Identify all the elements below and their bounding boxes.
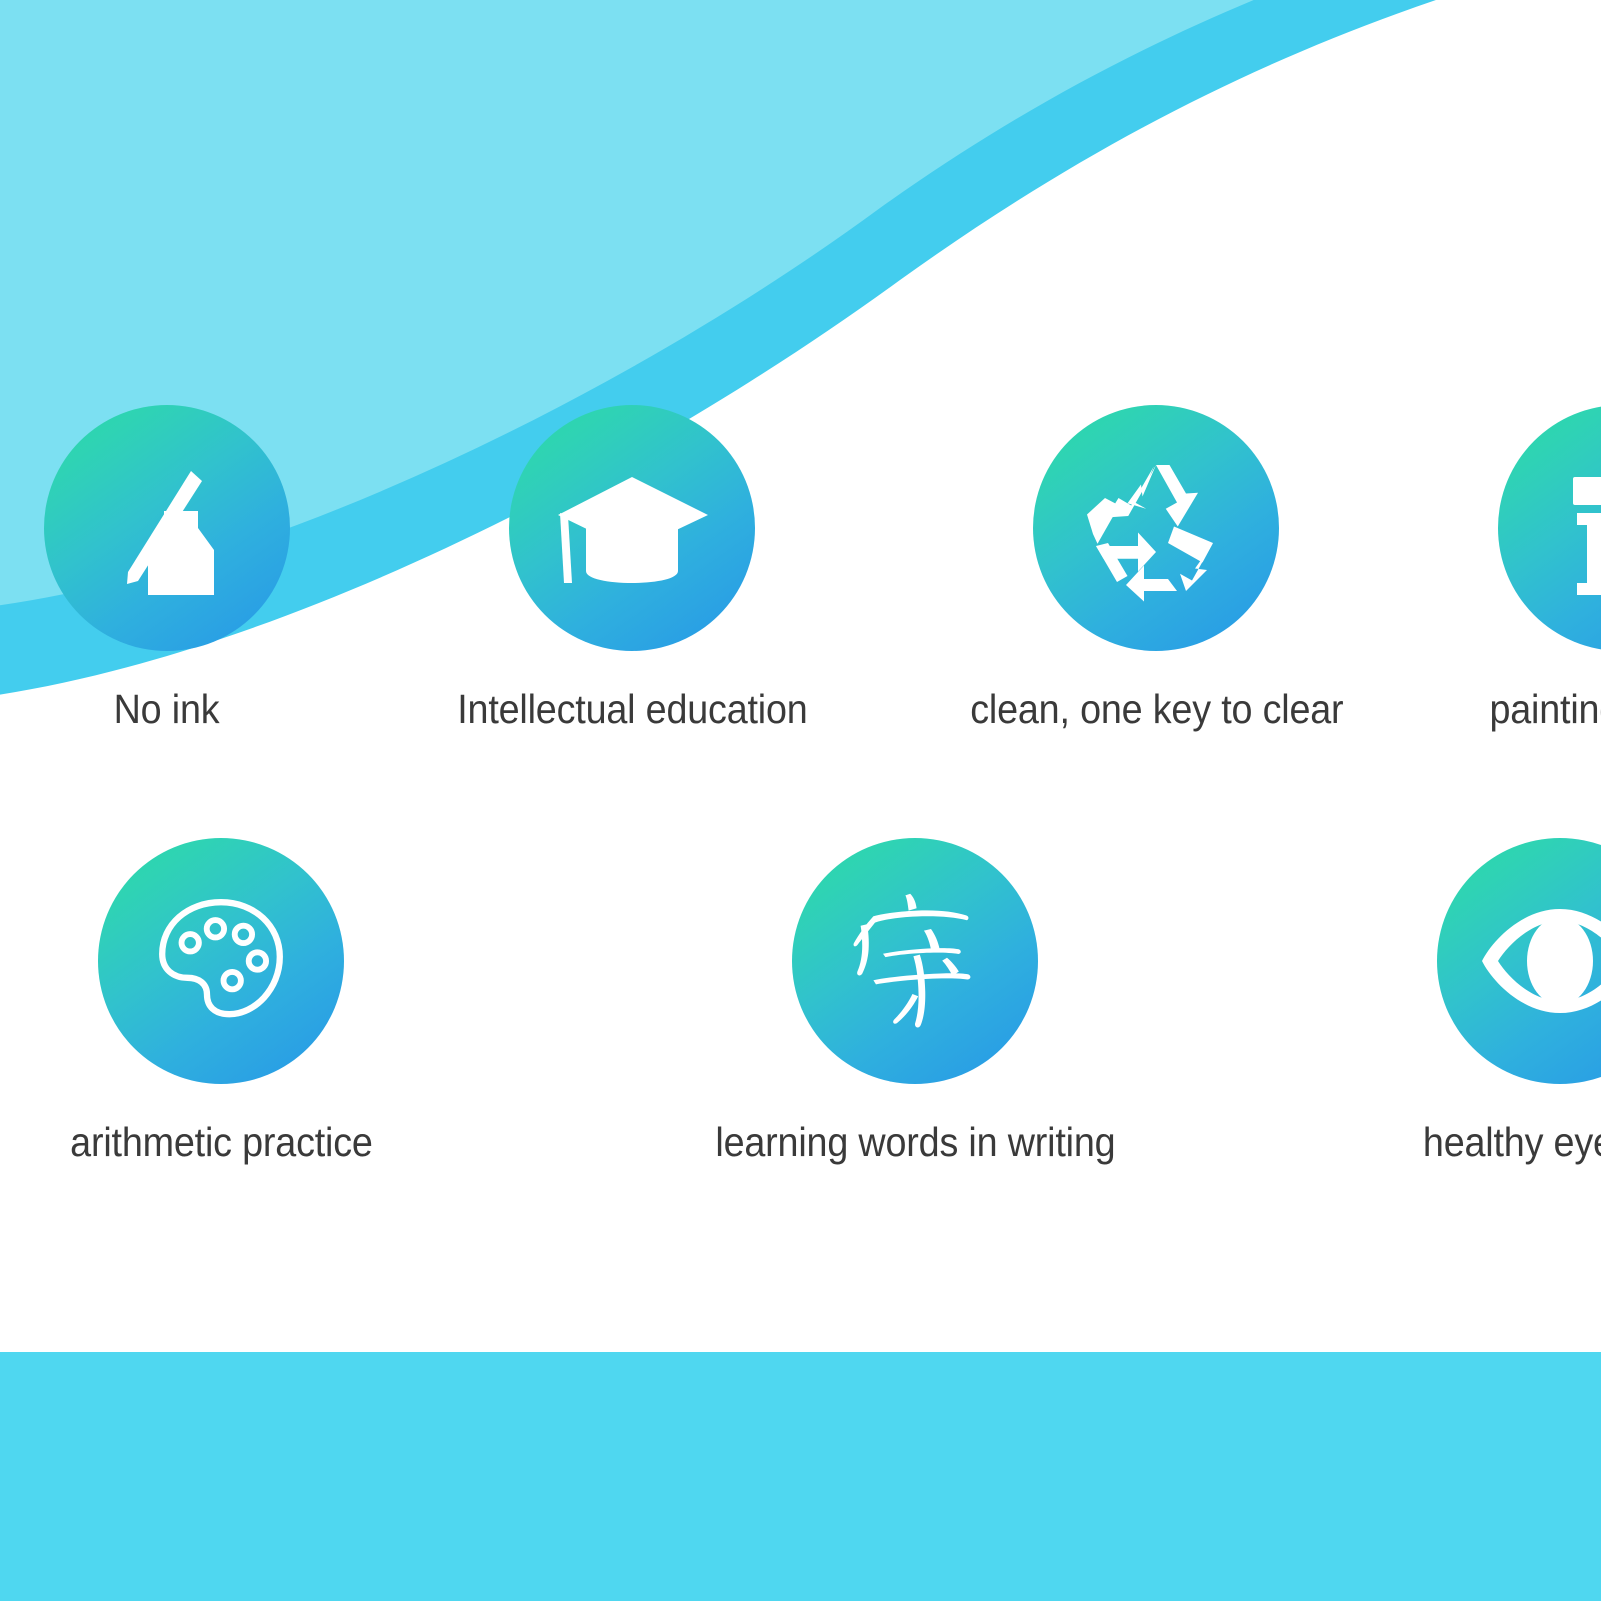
feature-label: painting training <box>1490 687 1601 731</box>
graduation-cap-icon <box>509 405 755 651</box>
feature-label: learning words in writing <box>715 1120 1115 1164</box>
feature-item-painting-training[interactable]: painting training <box>1476 405 1601 731</box>
feature-label: arithmetic practice <box>70 1120 373 1164</box>
feature-row-top: No ink Intellectual education <box>0 405 1601 731</box>
feature-highlight-banner: No ink Intellectual education <box>0 0 1601 1601</box>
feature-item-arithmetic-practice[interactable]: arithmetic practice <box>57 838 386 1164</box>
feature-item-eye-care[interactable]: healthy eye care <box>1411 838 1601 1164</box>
feature-label: clean, one key to clear <box>970 687 1343 731</box>
feature-label: healthy eye care <box>1423 1120 1601 1164</box>
background-decoration <box>0 0 1601 1601</box>
feature-label: No ink <box>114 687 220 731</box>
recycle-icon <box>1033 405 1279 651</box>
pen-and-ink-bottle-icon <box>44 405 290 651</box>
feature-item-clean[interactable]: clean, one key to clear <box>952 405 1360 731</box>
eye-icon <box>1437 838 1601 1084</box>
feature-item-intellectual-education[interactable]: Intellectual education <box>442 405 823 731</box>
footer-bar <box>0 0 1601 1601</box>
paint-palette-icon <box>98 838 344 1084</box>
feature-item-no-ink[interactable]: No ink <box>44 405 290 731</box>
feature-row-bottom: arithmetic practice <box>0 838 1601 1164</box>
chinese-character-zi-icon <box>792 838 1038 1084</box>
trash-can-icon <box>1498 405 1601 651</box>
feature-label: Intellectual education <box>457 687 807 731</box>
feature-item-learning-words[interactable]: learning words in writing <box>698 838 1133 1164</box>
